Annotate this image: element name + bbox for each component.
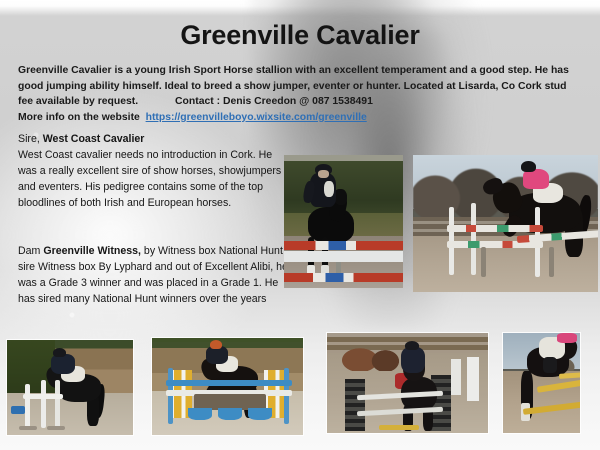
photo-jumping-white-gate — [7, 340, 133, 435]
dam-heading-name: Greenville Witness, — [43, 245, 141, 257]
rider-jacket — [401, 347, 425, 373]
photo-stallion-behind-poles — [284, 155, 403, 288]
background-pony-2 — [371, 349, 403, 371]
rider-pink-top — [523, 169, 549, 189]
jump-upright-3 — [55, 380, 60, 428]
photo-2-scene — [413, 155, 598, 292]
intro-paragraph: Greenville Cavalier is a young Irish Spo… — [18, 63, 584, 125]
sire-body-text: West Coast cavalier needs no introductio… — [18, 149, 281, 209]
rider-number-bib — [324, 181, 334, 197]
jump-stand-right — [549, 247, 554, 277]
jump-wing-white-1 — [451, 359, 461, 395]
ground-pole-yellow — [379, 425, 419, 430]
dam-section: Dam Greenville Witness, by Witness box N… — [18, 243, 290, 307]
jump-upright-left — [168, 368, 173, 424]
rider-boot — [543, 357, 557, 373]
jump-upright-1 — [25, 384, 30, 428]
jump-base-right — [47, 426, 65, 430]
intro-line-1: Greenville Cavalier is a young Irish Spo… — [18, 65, 505, 76]
jump-pole-upper — [166, 380, 292, 386]
contact-details: Contact : Denis Creedon @ 087 1538491 — [175, 96, 373, 107]
jump-wing-black-left — [345, 379, 365, 431]
sire-heading-name: West Coast Cavalier — [43, 133, 145, 145]
jump-wing-left-inner — [471, 203, 476, 275]
photo-yellow-poles-closeup — [503, 333, 580, 433]
photo-jumping-oxer-pink-rider — [413, 155, 598, 292]
jump-stand-left — [481, 247, 486, 277]
jump-plank-white — [284, 251, 403, 262]
photo-6-scene — [503, 333, 580, 433]
jump-rail — [23, 394, 63, 399]
jump-filler-1 — [188, 408, 212, 420]
rider-helmet — [53, 348, 66, 357]
photo-5-scene — [327, 333, 488, 433]
jump-filler-2 — [218, 408, 242, 420]
rider-pink-top — [557, 333, 577, 343]
arena-surface — [503, 371, 580, 433]
rider-helmet — [521, 161, 536, 172]
website-label: More info on the website — [18, 112, 140, 123]
jump-filler-3 — [248, 408, 272, 420]
stallion-advert-poster: Greenville Cavalier Greenville Cavalier … — [0, 0, 600, 450]
sire-section: Sire, West Coast Cavalier West Coast cav… — [18, 131, 286, 211]
website-link[interactable]: https://greenvilleboyo.wixsite.com/green… — [146, 112, 367, 123]
photo-3-scene — [7, 340, 133, 435]
sire-heading-label: Sire, — [18, 133, 40, 145]
photo-jumping-blue-oxer — [152, 338, 303, 435]
photo-4-scene — [152, 338, 303, 435]
jump-blue-filler — [11, 406, 25, 414]
jump-upright-right — [284, 368, 289, 424]
page-title: Greenville Cavalier — [0, 20, 600, 51]
rider-helmet — [210, 340, 222, 349]
jump-pole-upper — [447, 225, 543, 232]
photo-1-scene — [284, 155, 403, 288]
jump-upright-2 — [41, 380, 46, 428]
photo-arena-rear-view — [327, 333, 488, 433]
rider-jacket — [51, 354, 75, 374]
dam-heading-label: Dam — [18, 245, 40, 257]
rider-face — [318, 170, 329, 178]
jump-pole-bottom — [284, 273, 403, 282]
jump-wing-white-2 — [467, 357, 479, 401]
jump-pole-top — [284, 241, 403, 250]
jump-base-left — [19, 426, 37, 430]
rider-helmet — [405, 341, 419, 350]
